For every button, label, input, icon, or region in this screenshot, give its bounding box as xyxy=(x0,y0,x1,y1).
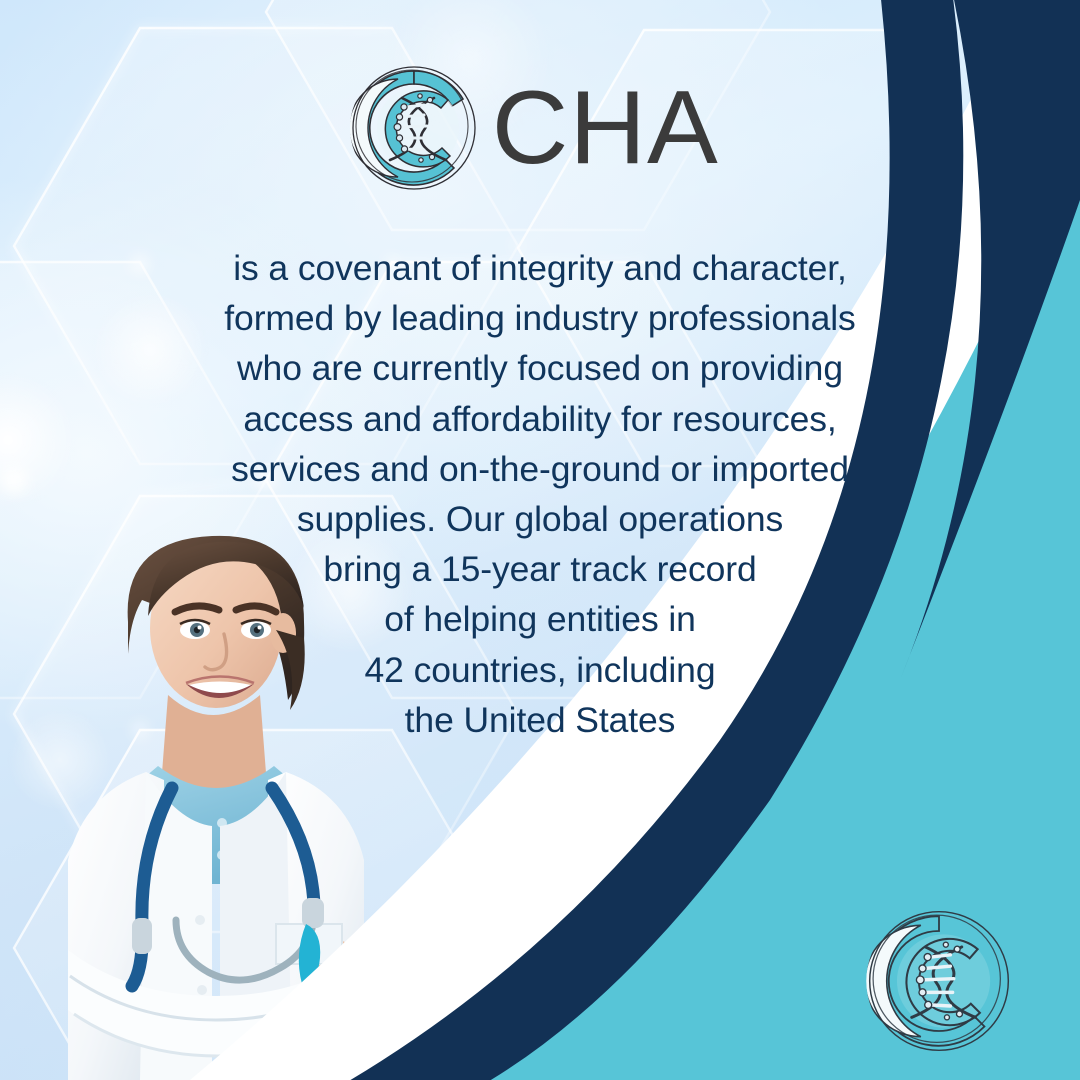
copy-line-1: is a covenant of integrity and character… xyxy=(80,243,1000,293)
copy-line-5: services and on-the-ground or imported xyxy=(80,444,1000,494)
promo-canvas: CHA is a covenant of integrity and chara… xyxy=(0,0,1080,1080)
copy-line-2: formed by leading industry professionals xyxy=(80,293,1000,343)
copy-line-9: 42 countries, including xyxy=(80,645,1000,695)
cha-circular-dna-logo-icon xyxy=(348,62,480,194)
brand-wordmark: CHA xyxy=(492,76,719,180)
copy-line-6: supplies. Our global operations xyxy=(80,494,1000,544)
copy-line-10: the United States xyxy=(80,695,1000,745)
copy-line-4: access and affordability for resources, xyxy=(80,394,1000,444)
body-copy: is a covenant of integrity and character… xyxy=(80,243,1000,745)
copy-line-7: bring a 15-year track record xyxy=(80,544,1000,594)
cha-logo-watermark-icon xyxy=(864,906,1014,1056)
copy-line-3: who are currently focused on providing xyxy=(80,343,1000,393)
brand-logo-lockup: CHA xyxy=(348,62,717,194)
copy-line-8: of helping entities in xyxy=(80,594,1000,644)
